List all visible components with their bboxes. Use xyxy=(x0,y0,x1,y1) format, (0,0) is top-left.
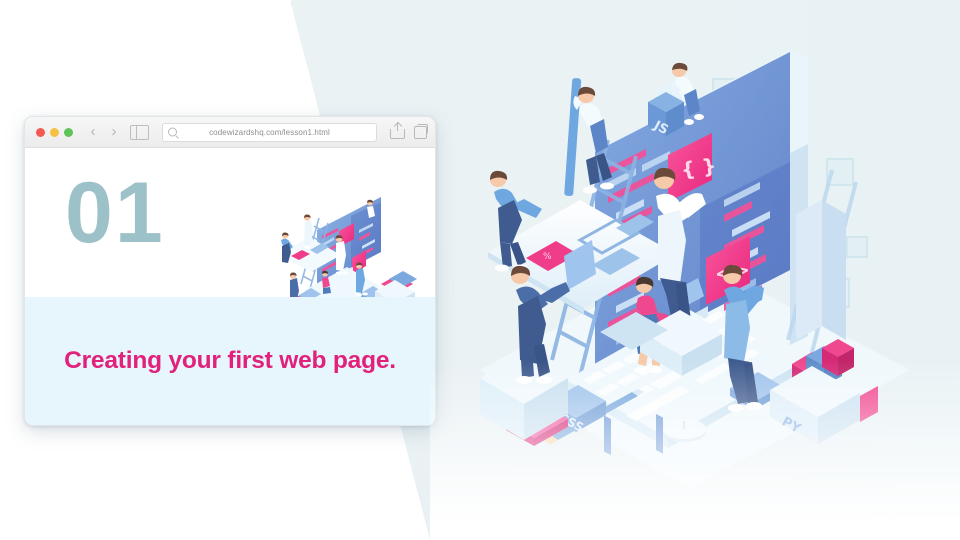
maximize-window-button[interactable] xyxy=(64,128,73,137)
lesson-number: 01 xyxy=(65,170,165,256)
svg-text:{ }: { } xyxy=(679,153,717,182)
slide-canvas: { } </> xyxy=(0,0,960,540)
browser-toolbar: ‹ › codewizardshq.com/lesson1.html xyxy=(25,117,435,148)
share-icon[interactable] xyxy=(390,129,405,139)
close-window-button[interactable] xyxy=(36,128,45,137)
pale-slab xyxy=(796,200,846,340)
forward-button[interactable]: › xyxy=(107,124,121,140)
address-bar[interactable]: codewizardshq.com/lesson1.html xyxy=(162,123,377,142)
hero-illustration xyxy=(263,192,431,310)
back-button[interactable]: ‹ xyxy=(86,124,100,140)
background-bottom-fade xyxy=(430,360,960,540)
character-ruler-holder xyxy=(564,78,614,196)
sidebar-icon[interactable] xyxy=(130,125,149,140)
minimize-window-button[interactable] xyxy=(50,128,59,137)
browser-window[interactable]: ‹ › codewizardshq.com/lesson1.html 01 xyxy=(24,116,436,426)
search-icon xyxy=(168,128,177,137)
lesson-title: Creating your first web page. xyxy=(64,345,396,376)
address-bar-url: codewizardshq.com/lesson1.html xyxy=(163,128,376,137)
svg-text:%: % xyxy=(543,252,552,262)
tabs-icon[interactable] xyxy=(414,126,427,139)
lesson-title-panel: Creating your first web page. xyxy=(25,297,435,425)
traffic-lights xyxy=(36,128,73,137)
